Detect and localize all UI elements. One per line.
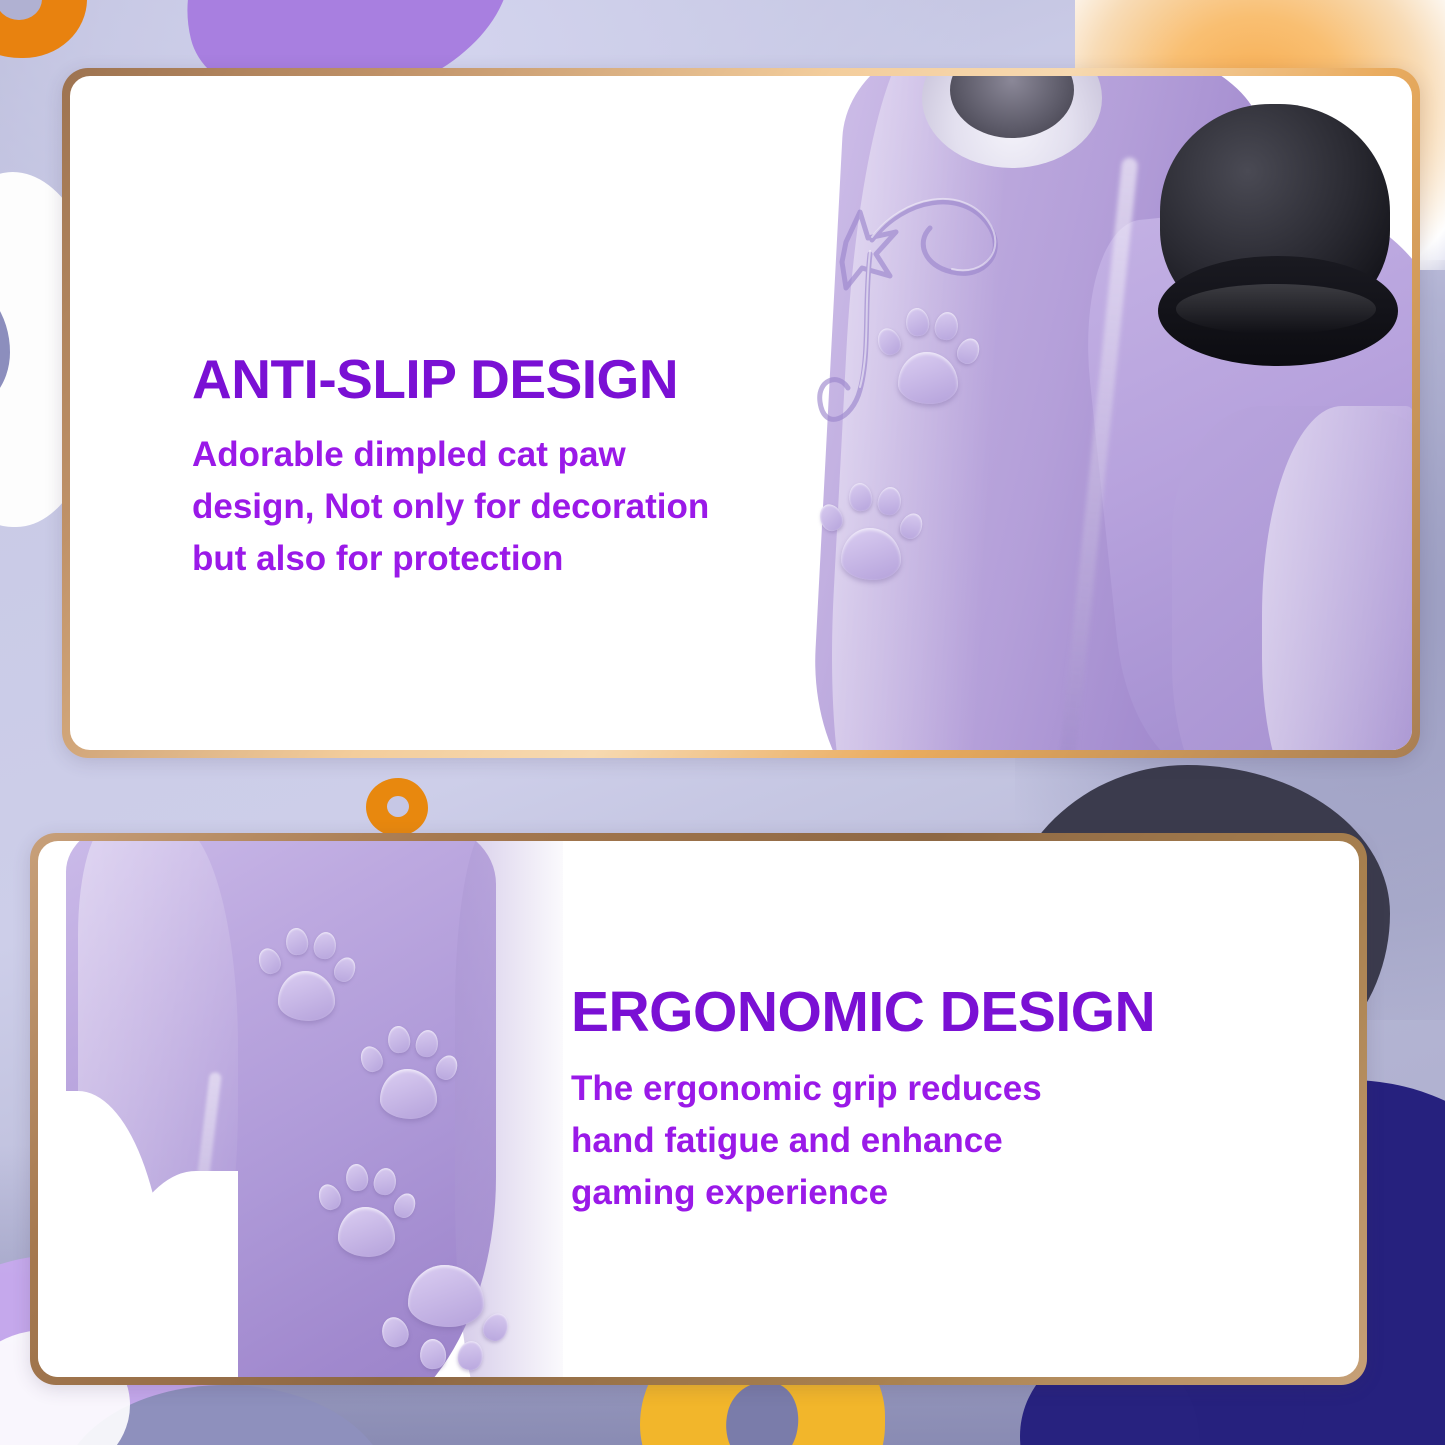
paw-print-emboss-icon	[314, 1159, 418, 1263]
ergonomic-body-line-2: hand fatigue and enhance	[571, 1115, 1359, 1167]
ergonomic-product-photo	[38, 841, 563, 1377]
anti-slip-body-line-3: but also for protection	[192, 533, 892, 585]
feature-card-ergonomic-face: ERGONOMIC DESIGN The ergonomic grip redu…	[38, 841, 1359, 1377]
paw-print-emboss-icon	[356, 1021, 460, 1125]
anti-slip-heading: ANTI-SLIP DESIGN	[192, 352, 892, 407]
thumbstick-highlight	[1176, 284, 1376, 334]
ergonomic-body-line-3: gaming experience	[571, 1167, 1359, 1219]
feature-card-anti-slip: ANTI-SLIP DESIGN Adorable dimpled cat pa…	[62, 68, 1420, 758]
anti-slip-text-block: ANTI-SLIP DESIGN Adorable dimpled cat pa…	[192, 352, 892, 584]
orange-dot-divider-decoration	[366, 778, 428, 836]
anti-slip-body-line-1: Adorable dimpled cat paw	[192, 429, 892, 481]
ergonomic-heading: ERGONOMIC DESIGN	[571, 984, 1359, 1041]
feature-card-anti-slip-face: ANTI-SLIP DESIGN Adorable dimpled cat pa…	[70, 76, 1412, 750]
paw-print-emboss-icon	[378, 1261, 506, 1377]
ergonomic-text-block: ERGONOMIC DESIGN The ergonomic grip redu…	[571, 984, 1359, 1218]
paw-print-emboss-icon	[254, 923, 358, 1027]
anti-slip-body-line-2: design, Not only for decoration	[192, 481, 892, 533]
infographic-canvas: ANTI-SLIP DESIGN Adorable dimpled cat pa…	[0, 0, 1445, 1445]
ergonomic-body-line-1: The ergonomic grip reduces	[571, 1063, 1359, 1115]
feature-card-ergonomic: ERGONOMIC DESIGN The ergonomic grip redu…	[30, 833, 1367, 1385]
